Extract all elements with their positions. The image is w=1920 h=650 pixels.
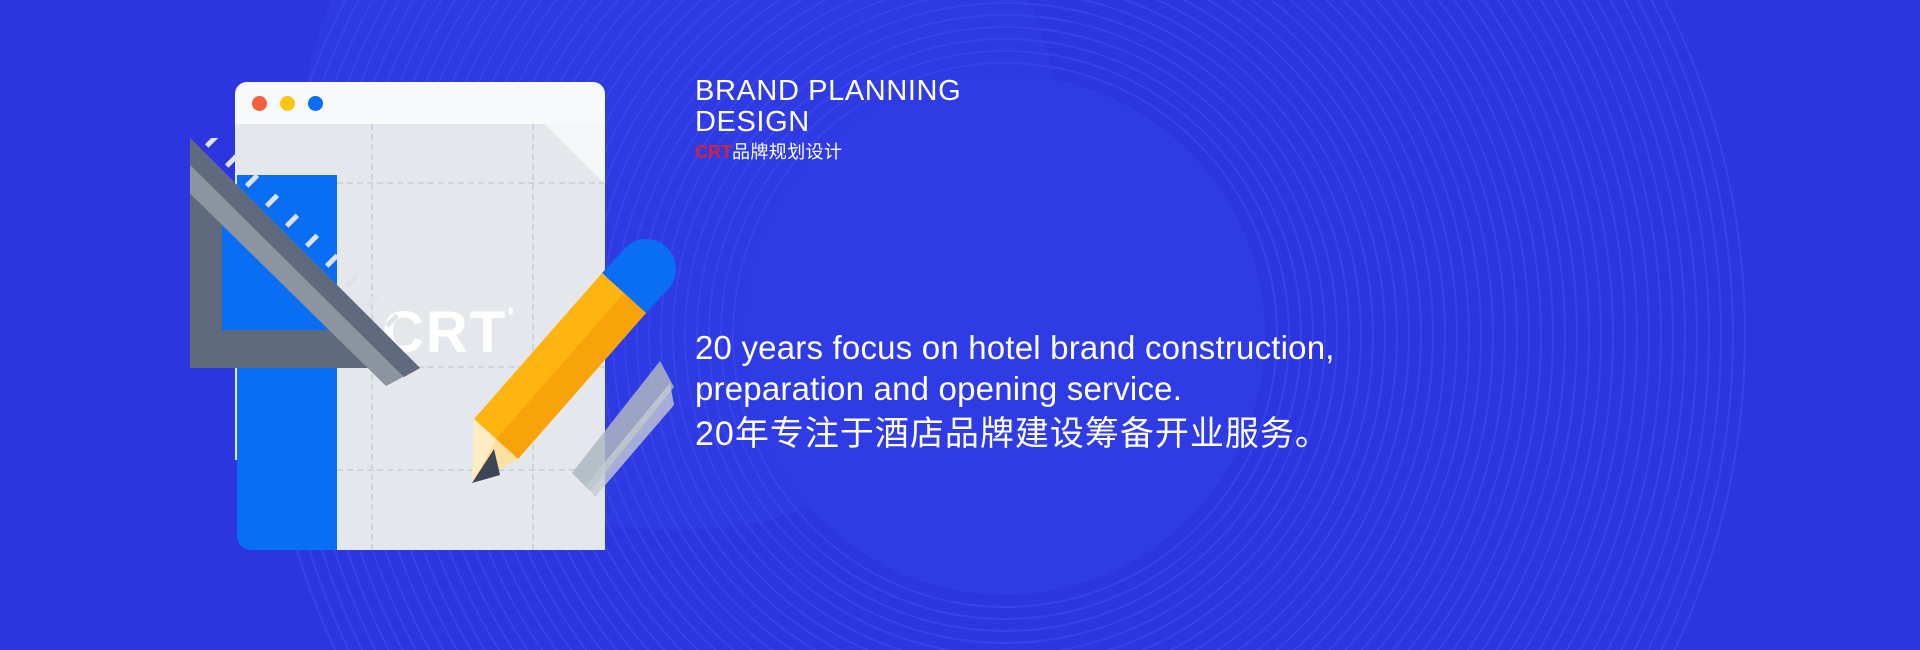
brand-name-crt: CRT	[695, 142, 732, 162]
subtitle: CRT品牌规划设计	[695, 140, 842, 165]
brand-design-illustration: CRT'	[190, 70, 710, 590]
tagline-chinese: 20年专注于酒店品牌建设筹备开业服务。	[695, 412, 1330, 456]
browser-titlebar	[235, 82, 605, 124]
triangle-ruler-icon	[190, 138, 440, 388]
subtitle-chinese: 品牌规划设计	[732, 142, 842, 162]
brand-banner: CRT'	[0, 0, 1920, 650]
tagline-english: 20 years focus on hotel brand constructi…	[695, 327, 1415, 410]
document-corner-fold	[545, 124, 605, 184]
window-close-dot-icon	[252, 96, 267, 111]
banner-text-content: BRAND PLANNING DESIGN CRT品牌规划设计 20 years…	[695, 0, 1795, 650]
page-title: BRAND PLANNING DESIGN	[695, 76, 961, 138]
window-maximize-dot-icon	[308, 96, 323, 111]
window-minimize-dot-icon	[280, 96, 295, 111]
pencil-icon	[460, 235, 680, 505]
